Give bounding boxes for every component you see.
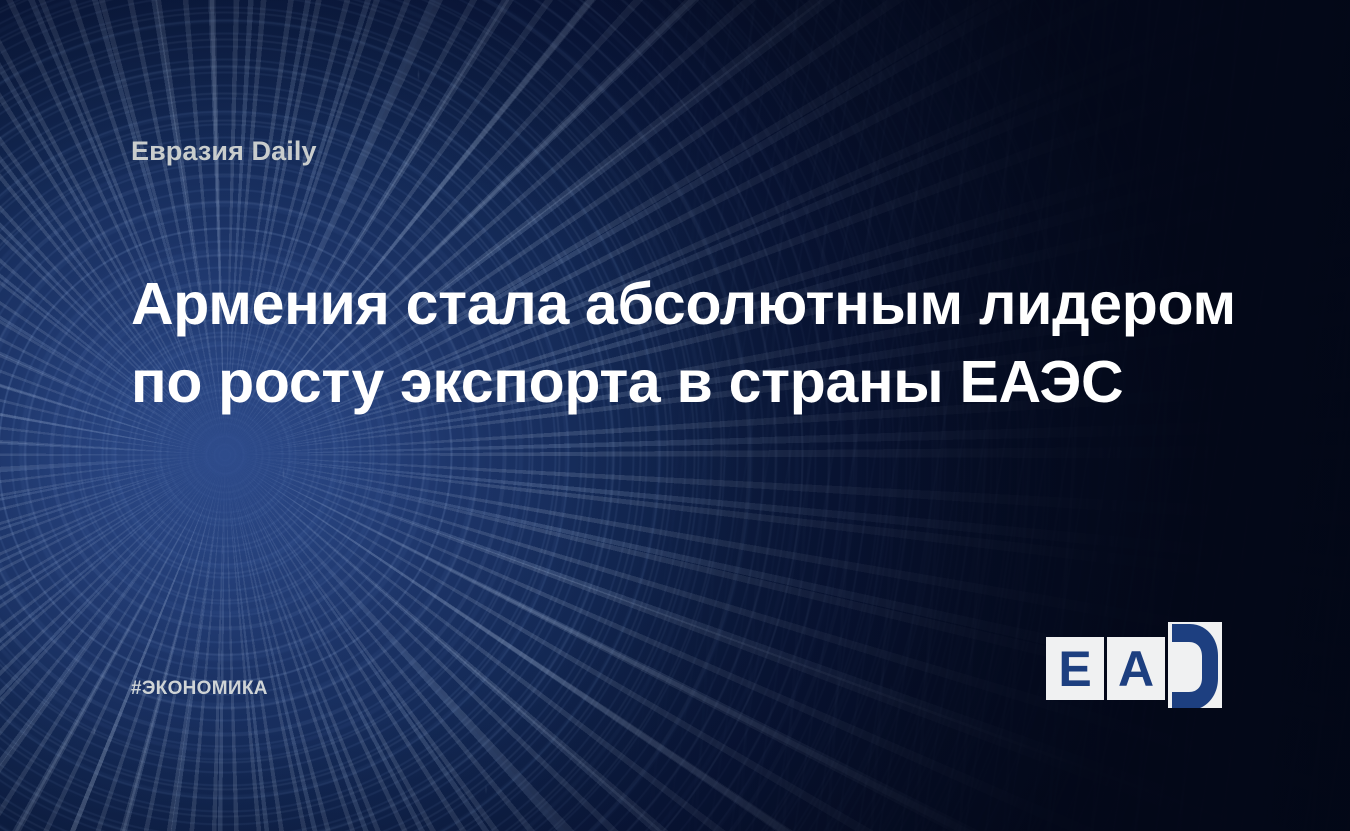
- headline-line-2: по росту экспорта в страны ЕАЭС: [131, 343, 1231, 421]
- headline-line-1: Армения стала абсолютным лидером: [131, 265, 1231, 343]
- logo-letter-e: E: [1046, 637, 1104, 700]
- logo-tile-e: E: [1046, 637, 1104, 700]
- eadaily-logo[interactable]: E A: [1044, 620, 1224, 708]
- masthead-brand[interactable]: Евразия Daily: [131, 136, 317, 167]
- share-card: Евразия Daily Армения стала абсолютным л…: [0, 0, 1350, 831]
- logo-letter-d-top-half-icon: [1168, 622, 1222, 665]
- logo-tile-d-bottom: [1168, 665, 1222, 708]
- logo-tile-d-top: [1168, 622, 1222, 665]
- logo-tile-a: A: [1107, 637, 1165, 700]
- logo-letter-a: A: [1107, 637, 1165, 700]
- logo-letter-d-bottom-half-icon: [1168, 665, 1222, 708]
- page-title: Армения стала абсолютным лидером по рост…: [131, 265, 1231, 421]
- category-tag-economics[interactable]: #ЭКОНОМИКА: [131, 678, 268, 700]
